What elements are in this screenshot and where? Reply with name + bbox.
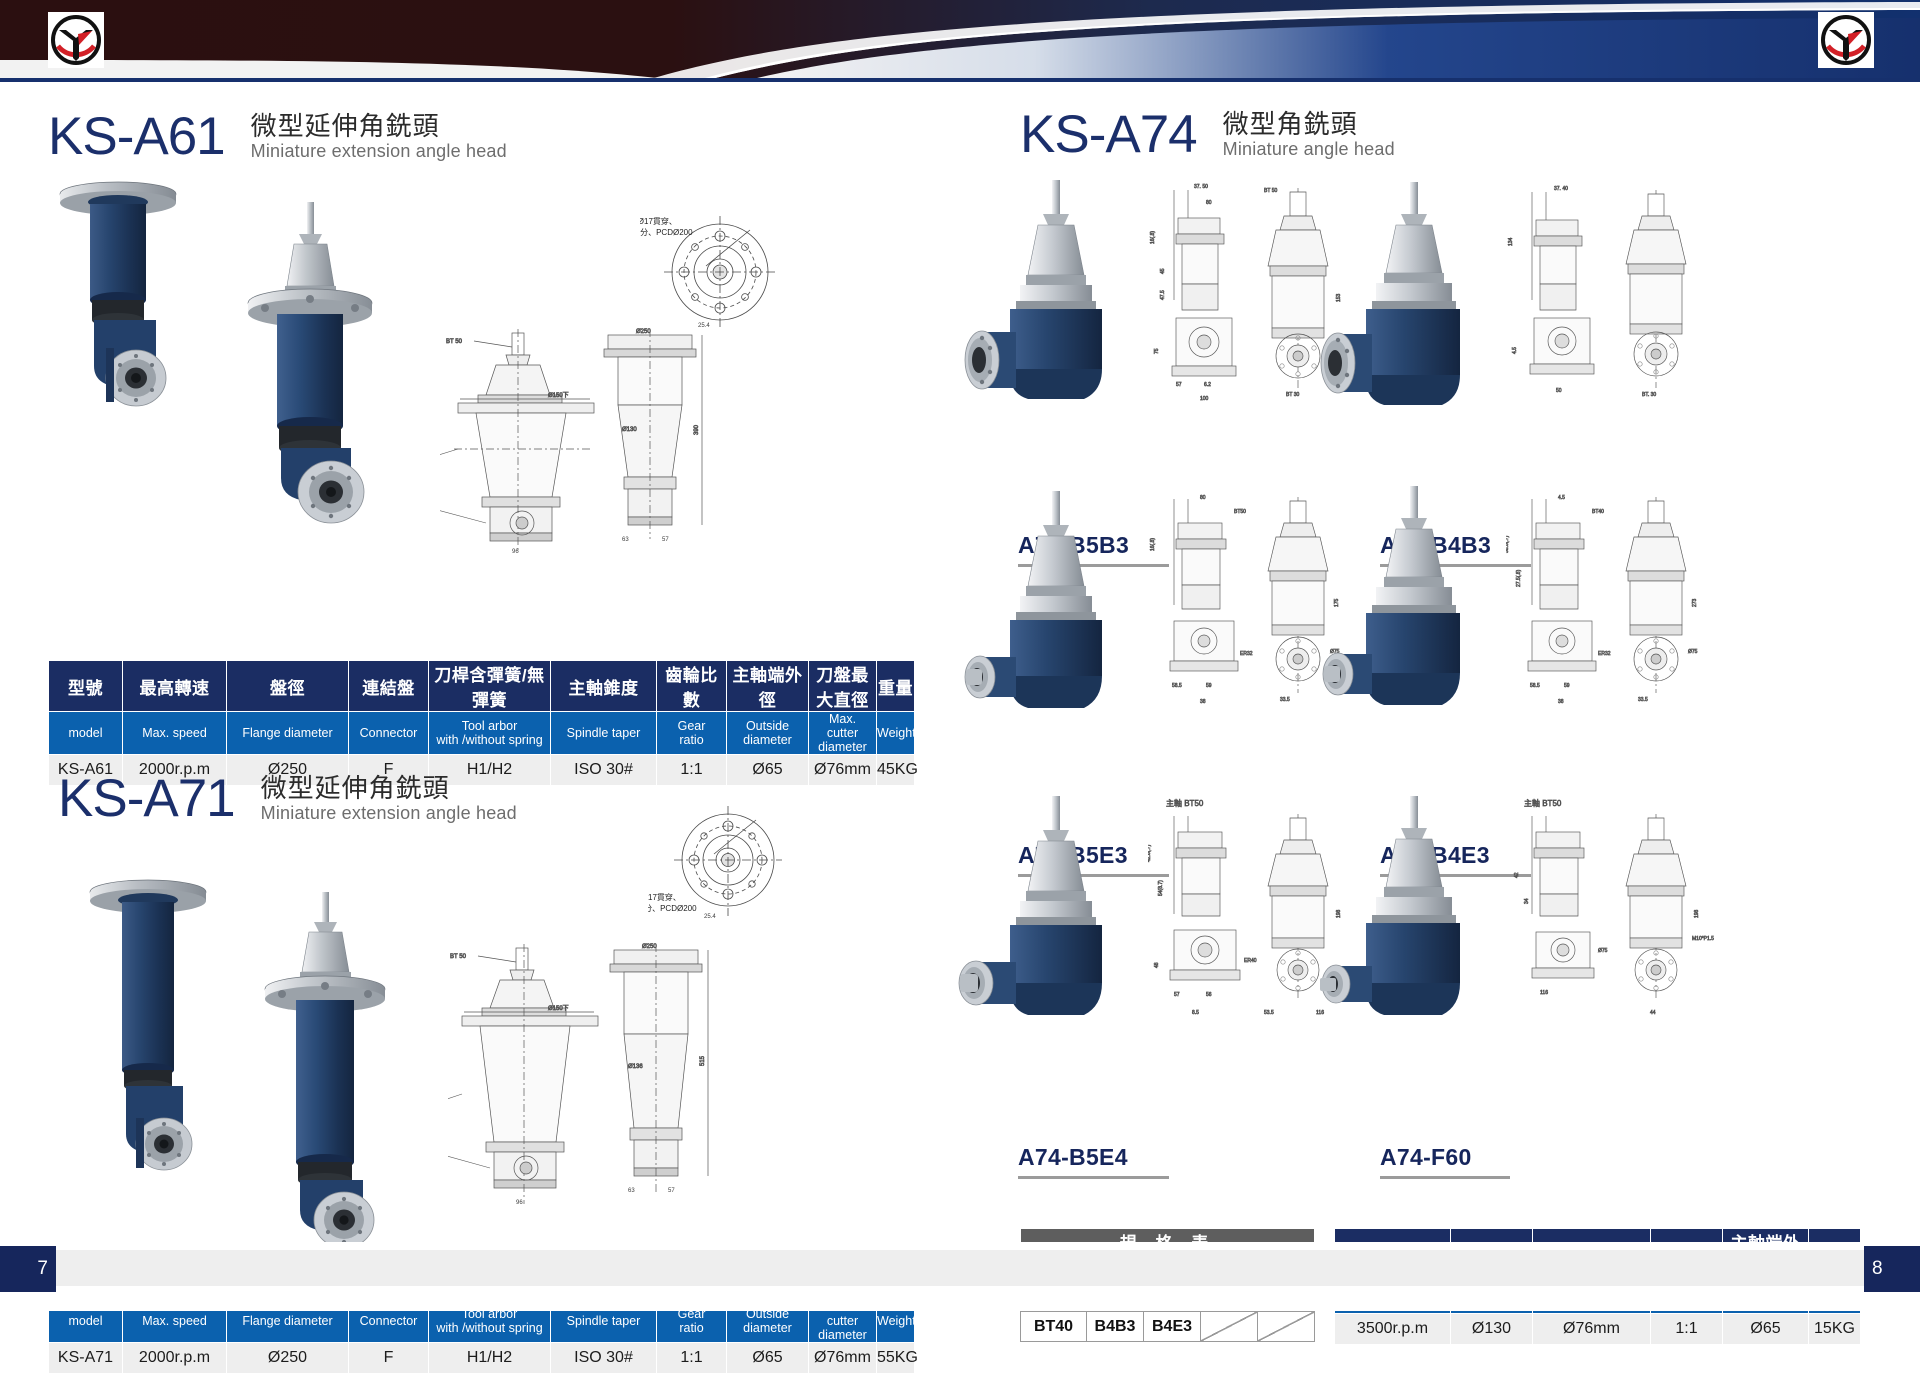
svg-text:4.5: 4.5 — [1512, 347, 1518, 354]
svg-text:BT 50: BT 50 — [450, 954, 467, 960]
td-outside: Ø65 — [727, 1343, 809, 1374]
variant-caption-a74-f60: A74-F60 — [1380, 1144, 1500, 1184]
svg-text:134: 134 — [1508, 237, 1514, 246]
spec-table-ks-a61: 型號 最高轉速 盤徑 連結盤 刀桿含彈簧/無彈簧 主軸錐度 齒輪比數 主軸端外徑… — [48, 660, 915, 786]
svg-text:54(8.7): 54(8.7) — [1158, 880, 1164, 896]
svg-text:45: 45 — [1160, 268, 1166, 274]
td-weight: 55KG — [877, 1343, 915, 1374]
page-number-left: 7 — [0, 1246, 56, 1292]
svg-text:BT. 30: BT. 30 — [1642, 392, 1656, 398]
grid-row-label: BT40 — [1021, 1312, 1087, 1342]
td-flange: Ø130 — [1451, 1314, 1533, 1345]
svg-text:56: 56 — [1206, 992, 1212, 998]
svg-text:Ø75: Ø75 — [1688, 649, 1698, 655]
td-connector: F — [349, 1343, 429, 1374]
th-cn-connector: 連結盤 — [349, 661, 429, 712]
td-gear: 1:1 — [657, 1343, 727, 1374]
svg-text:390: 390 — [694, 424, 700, 435]
svg-text:515: 515 — [700, 1055, 706, 1066]
svg-text:BT40: BT40 — [1592, 509, 1604, 515]
table-row: KS-A71 2000r.p.m Ø250 F H1/H2 ISO 30# 1:… — [49, 1343, 915, 1374]
th-cn-model: 型號 — [49, 661, 123, 712]
product-name-cn: 微型角銑頭 — [1223, 110, 1395, 139]
product-name-cn: 微型延伸角銑頭 — [261, 774, 517, 803]
product-name-en: Miniature extension angle head — [261, 803, 517, 825]
svg-text:96: 96 — [512, 549, 519, 555]
svg-text:63: 63 — [628, 1188, 635, 1194]
product-photo-ks-a61-a — [48, 172, 218, 462]
svg-text:Ø136: Ø136 — [628, 1064, 643, 1070]
td-speed: 3500r.p.m — [1335, 1314, 1451, 1345]
svg-text:BT 50: BT 50 — [446, 339, 463, 345]
td-outside: Ø65 — [727, 755, 809, 786]
svg-text:57: 57 — [662, 537, 669, 543]
td-cutter: Ø76mm — [1533, 1314, 1651, 1345]
th-en-gear: Gearratio — [657, 712, 727, 755]
th-cn-speed: 最高轉速 — [123, 661, 227, 712]
drawing-flange-topview-a61: (4)Ø17貫穿、 90°等分、PCDØ200 25.4 — [640, 210, 800, 330]
svg-text:Ø150下: Ø150下 — [548, 1005, 569, 1012]
drawing-a74-b4b3-dims: 37. 40 134 4.5 50 BT. 30 — [1506, 180, 1776, 450]
td-flange: Ø250 — [227, 1343, 349, 1374]
svg-text:42.8(.7): 42.8(.7) — [1148, 844, 1152, 862]
svg-text:Ø250: Ø250 — [636, 329, 651, 335]
td-speed: 2000r.p.m — [123, 1343, 227, 1374]
svg-text:57: 57 — [1176, 382, 1182, 388]
product-title-ks-a71: KS-A71 微型延伸角銑頭 Miniature extension angle… — [58, 774, 517, 825]
drawing-flange-topview-a71: (4)Ø17貫穿、 90°等分、PCDØ200 25.4 — [648, 800, 808, 920]
svg-text:37. 50: 37. 50 — [1194, 184, 1208, 190]
svg-text:80: 80 — [1200, 495, 1206, 501]
variant-caption-a74-b5e4: A74-B5E4 — [1018, 1144, 1158, 1184]
svg-text:Ø75: Ø75 — [1598, 948, 1608, 954]
drawing-note-holes: (4)Ø17貫穿、 — [640, 216, 677, 226]
svg-text:100: 100 — [1200, 396, 1209, 402]
svg-text:8.5: 8.5 — [1192, 1010, 1199, 1016]
td-gear: 1:1 — [1651, 1314, 1723, 1345]
td-cutter: Ø76mm — [809, 755, 877, 786]
svg-text:57: 57 — [668, 1188, 675, 1194]
svg-text:4.5: 4.5 — [1558, 495, 1565, 501]
th-cn-cutter: 刀盤最大直徑 — [809, 661, 877, 712]
top-banner — [0, 0, 1920, 82]
product-photo-ks-a71-a — [78, 872, 248, 1212]
svg-text:48: 48 — [1154, 962, 1160, 968]
product-title-ks-a74: KS-A74 微型角銑頭 Miniature angle head — [1020, 110, 1395, 161]
company-logo — [48, 12, 104, 68]
grid-cell: B4E3 — [1144, 1312, 1201, 1342]
th-en-model: model — [49, 712, 123, 755]
svg-text:44: 44 — [1650, 1010, 1656, 1016]
drawing-note-pcd: 90°等分、PCDØ200 — [640, 227, 693, 237]
svg-text:273: 273 — [1692, 598, 1698, 607]
drawing-note-holes: (4)Ø17貫穿、 — [648, 892, 681, 902]
svg-text:47.5: 47.5 — [1160, 290, 1166, 300]
svg-text:38.5(.7): 38.5(.7) — [1506, 535, 1510, 553]
th-en-taper: Spindle taper — [551, 712, 657, 755]
svg-text:Ø150下: Ø150下 — [548, 392, 569, 399]
table-row: 3500r.p.m Ø130 Ø76mm 1:1 Ø65 15KG — [1335, 1314, 1861, 1345]
th-cn-outside: 主軸端外徑 — [727, 661, 809, 712]
svg-text:34: 34 — [1524, 898, 1530, 904]
svg-text:25.4: 25.4 — [704, 914, 716, 920]
th-cn-flange: 盤徑 — [227, 661, 349, 712]
svg-text:38: 38 — [1558, 699, 1564, 705]
grid-cell: B4B3 — [1087, 1312, 1144, 1342]
td-weight: 45KG — [877, 755, 915, 786]
svg-text:59: 59 — [1206, 683, 1212, 689]
svg-text:58.5: 58.5 — [1530, 683, 1540, 689]
drawing-note-pcd: 90°等分、PCDØ200 — [648, 903, 697, 913]
svg-text:6.2: 6.2 — [1204, 382, 1211, 388]
svg-text:Ø130: Ø130 — [622, 427, 637, 433]
td-model: KS-A71 — [49, 1343, 123, 1374]
td-taper: ISO 30# — [551, 1343, 657, 1374]
svg-text:80: 80 — [1206, 200, 1212, 206]
th-en-flange: Flange diameter — [227, 712, 349, 755]
left-page: KS-A61 微型延伸角銑頭 Miniature extension angle… — [0, 82, 960, 1242]
footer-bar — [0, 1250, 1920, 1286]
svg-text:38: 38 — [1200, 699, 1206, 705]
svg-text:16(.8): 16(.8) — [1150, 231, 1156, 244]
table-header-row-cn: 型號 最高轉速 盤徑 連結盤 刀桿含彈簧/無彈簧 主軸錐度 齒輪比數 主軸端外徑… — [49, 661, 915, 712]
svg-text:75: 75 — [1154, 348, 1160, 354]
th-en-outside: Outsidediameter — [727, 712, 809, 755]
model-code: KS-A71 — [58, 774, 235, 824]
th-en-speed: Max. speed — [123, 712, 227, 755]
th-en-connector: Connector — [349, 712, 429, 755]
svg-text:ER32: ER32 — [1598, 651, 1611, 657]
product-photo-ks-a61-b — [215, 200, 405, 530]
th-en-arbor: Tool arborwith /without spring — [429, 712, 551, 755]
model-code: KS-A74 — [1020, 110, 1197, 160]
td-weight: 15KG — [1809, 1314, 1861, 1345]
svg-text:58.5: 58.5 — [1172, 683, 1182, 689]
svg-text:116: 116 — [1540, 990, 1548, 996]
drawing-note-spindle-bt50: 主軸 BT50 — [1166, 798, 1204, 808]
table-header-row-en: model Max. speed Flange diameter Connect… — [49, 712, 915, 755]
td-taper: ISO 30# — [551, 755, 657, 786]
product-photo-ks-a71-b — [230, 890, 420, 1250]
svg-text:59: 59 — [1564, 683, 1570, 689]
svg-text:37. 40: 37. 40 — [1554, 186, 1568, 192]
svg-text:M10*P1.5: M10*P1.5 — [1692, 936, 1714, 942]
right-page: KS-A74 微型角銑頭 Miniature angle head — [960, 82, 1920, 1242]
svg-text:16(.8): 16(.8) — [1150, 538, 1156, 551]
td-gear: 1:1 — [657, 755, 727, 786]
td-cutter: Ø76mm — [809, 1343, 877, 1374]
model-code: KS-A61 — [48, 112, 225, 162]
svg-text:198: 198 — [1694, 909, 1700, 918]
drawing-section-a61: BT 50 Ø150下 Ø250 — [440, 327, 710, 557]
grid-cell-empty — [1201, 1312, 1258, 1342]
drawing-section-a71: BT 50 Ø150下 Ø250 — [448, 942, 718, 1212]
page-number-right: 8 — [1864, 1246, 1920, 1292]
product-name-cn: 微型延伸角銑頭 — [251, 112, 507, 141]
svg-text:57: 57 — [1174, 992, 1180, 998]
svg-text:42: 42 — [1514, 872, 1520, 878]
th-cn-gear: 齒輪比數 — [657, 661, 727, 712]
svg-text:33.5: 33.5 — [1638, 697, 1648, 703]
grid-row-bt40: BT40 B4B3 B4E3 — [1021, 1312, 1315, 1342]
svg-text:63: 63 — [622, 537, 629, 543]
drawing-a74-b4e3-dims: 4.5 BT40 38.5(.7) 27.5(.8) 58.559 ER32 3… — [1506, 487, 1776, 747]
th-en-cutter: Max.cutter diameter — [809, 712, 877, 755]
td-outside: Ø65 — [1723, 1314, 1809, 1345]
td-arbor: H1/H2 — [429, 1343, 551, 1374]
drawing-note-spindle-bt50: 主軸 BT50 — [1524, 798, 1562, 808]
drawing-a74-f60-dims: 主軸 BT50 42 34 116 Ø75 — [1506, 792, 1776, 1042]
svg-text:27.5(.8): 27.5(.8) — [1516, 569, 1522, 587]
company-logo-secondary — [1818, 12, 1874, 68]
svg-text:50: 50 — [1556, 388, 1562, 394]
product-name-en: Miniature angle head — [1223, 139, 1395, 161]
th-cn-arbor: 刀桿含彈簧/無彈簧 — [429, 661, 551, 712]
svg-text:96: 96 — [516, 1200, 523, 1206]
product-title-ks-a61: KS-A61 微型延伸角銑頭 Miniature extension angle… — [48, 112, 507, 163]
svg-text:Ø250: Ø250 — [642, 944, 657, 950]
product-name-en: Miniature extension angle head — [251, 141, 507, 163]
grid-cell-empty — [1258, 1312, 1315, 1342]
th-cn-taper: 主軸錐度 — [551, 661, 657, 712]
